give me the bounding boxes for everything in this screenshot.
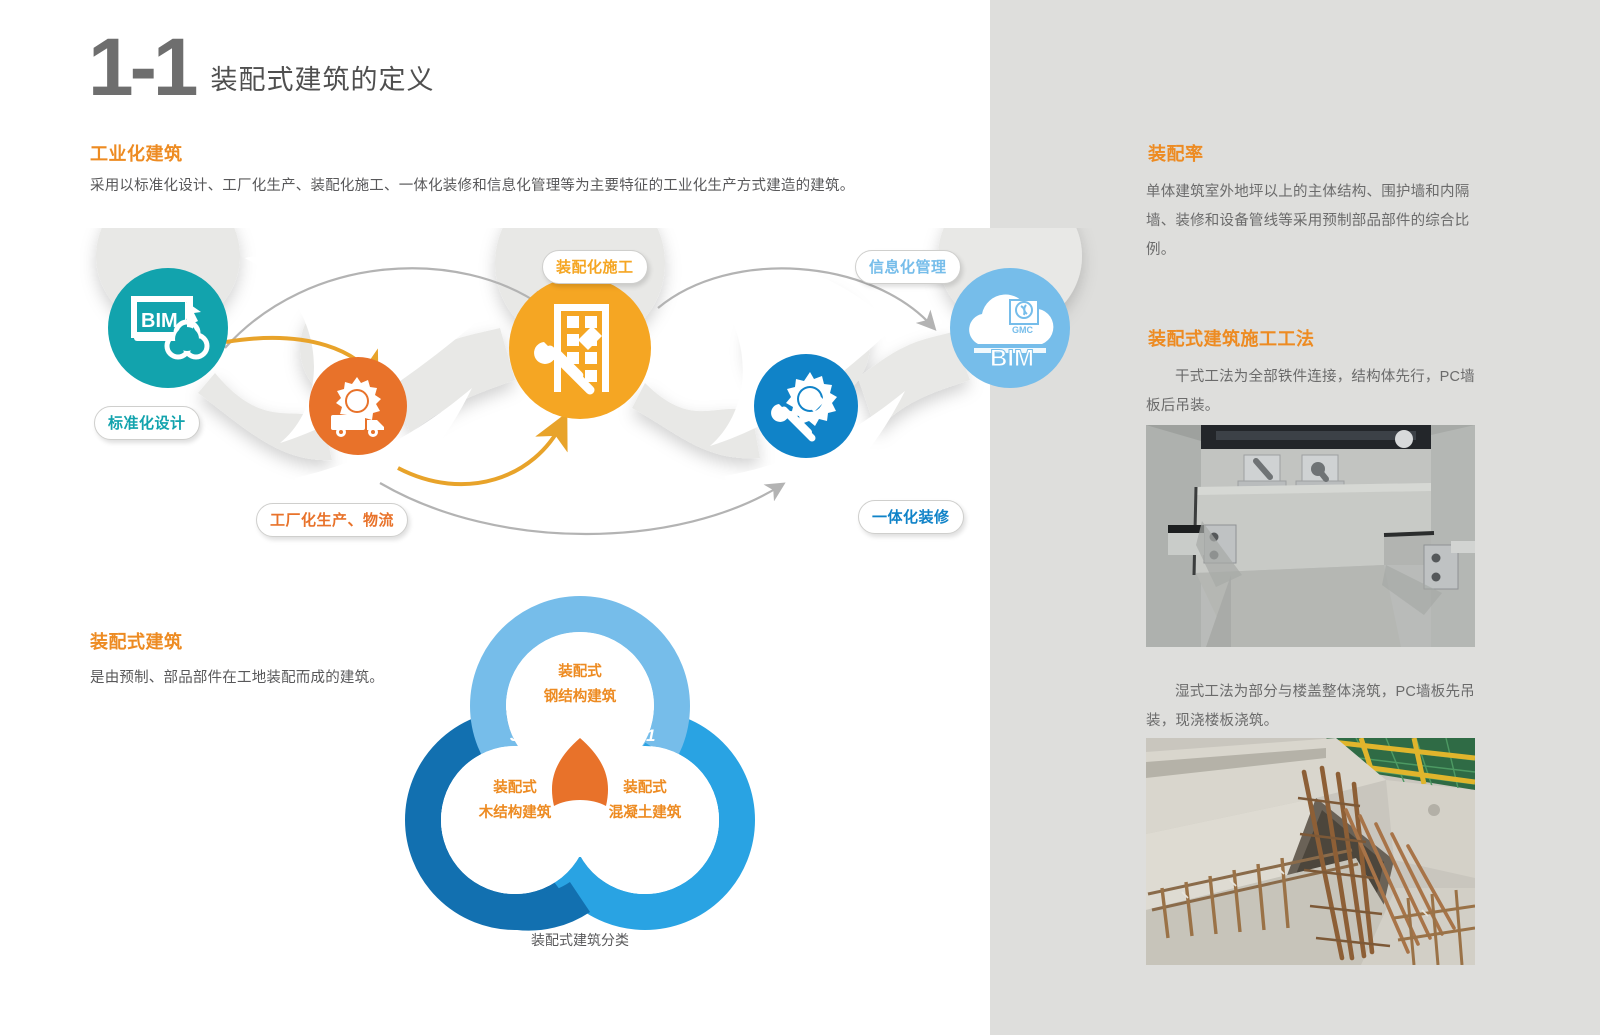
rebar-cast-in-place-slab-photo bbox=[1146, 738, 1475, 965]
bim-monitor-recycle-icon: BIM bbox=[108, 268, 228, 388]
svg-text:BIM: BIM bbox=[141, 310, 178, 332]
venn-number-2: 2 bbox=[578, 842, 587, 862]
building-tools-icon bbox=[509, 277, 651, 419]
gear-wrench-hammer-icon bbox=[754, 354, 858, 458]
process-label-information-management[interactable]: 信息化管理 bbox=[855, 250, 961, 284]
process-node-information-management[interactable]: GMC BIM bbox=[938, 256, 1082, 400]
process-node-standardized-design[interactable]: BIM bbox=[96, 256, 240, 400]
process-node-factory-production[interactable] bbox=[300, 348, 416, 464]
process-node-integrated-decoration[interactable] bbox=[744, 344, 868, 468]
svg-text:BIM: BIM bbox=[990, 345, 1034, 370]
cloud-bim-gmc-icon: GMC BIM bbox=[950, 268, 1070, 388]
page-header: 1-1 装配式建筑的定义 bbox=[88, 34, 435, 101]
gmc-logo: GMC bbox=[1010, 300, 1038, 335]
process-label-standardized-design[interactable]: 标准化设计 bbox=[94, 406, 200, 440]
svg-text:GMC: GMC bbox=[1012, 325, 1033, 335]
process-node-assembly-construction[interactable] bbox=[495, 263, 665, 433]
prefab-building-body: 是由预制、部品部件在工地装配而成的建筑。 bbox=[90, 664, 390, 692]
chapter-number: 1-1 bbox=[88, 34, 195, 101]
venn-label-wood: 装配式 木结构建筑 bbox=[440, 776, 590, 827]
industrial-building-body: 采用以标准化设计、工厂化生产、装配化施工、一体化装修和信息化管理等为主要特征的工… bbox=[90, 172, 960, 200]
page-title: 装配式建筑的定义 bbox=[211, 58, 435, 101]
venn-label-steel: 装配式 钢结构建筑 bbox=[505, 660, 655, 711]
page-root: 1-1 装配式建筑的定义 工业化建筑 采用以标准化设计、工厂化生产、装配化施工、… bbox=[0, 0, 1600, 1035]
dry-method-body: 干式工法为全部铁件连接，结构体先行，PC墙板后吊装。 bbox=[1146, 363, 1482, 421]
assembly-rate-heading: 装配率 bbox=[1148, 140, 1204, 166]
process-label-integrated-decoration[interactable]: 一体化装修 bbox=[858, 500, 964, 534]
process-label-factory-production[interactable]: 工厂化生产、物流 bbox=[256, 503, 408, 537]
venn-number-3: 3 bbox=[510, 726, 519, 746]
pc-wall-panel-connection-photo bbox=[1146, 425, 1475, 647]
venn-number-1: 1 bbox=[646, 726, 655, 746]
industrialization-process-diagram: BIM 标准化设计 bbox=[80, 228, 1140, 548]
wet-method-body: 湿式工法为部分与楼盖整体浇筑，PC墙板先吊装，现浇楼板浇筑。 bbox=[1146, 678, 1482, 736]
gear-truck-icon bbox=[309, 357, 407, 455]
process-label-assembly-construction[interactable]: 装配化施工 bbox=[542, 250, 648, 284]
prefab-classification-venn: 装配式 钢结构建筑 装配式 木结构建筑 装配式 混凝土建筑 1 2 3 bbox=[400, 588, 760, 948]
assembly-rate-body: 单体建筑室外地坪以上的主体结构、围护墙和内隔墙、装修和设备管线等采用预制部品部件… bbox=[1146, 178, 1484, 265]
venn-label-concrete: 装配式 混凝土建筑 bbox=[570, 776, 720, 827]
industrial-building-heading: 工业化建筑 bbox=[90, 140, 183, 166]
venn-caption: 装配式建筑分类 bbox=[400, 930, 760, 950]
construction-method-heading: 装配式建筑施工工法 bbox=[1148, 325, 1315, 351]
prefab-building-heading: 装配式建筑 bbox=[90, 628, 183, 654]
arrow-production-to-decoration bbox=[380, 483, 780, 534]
